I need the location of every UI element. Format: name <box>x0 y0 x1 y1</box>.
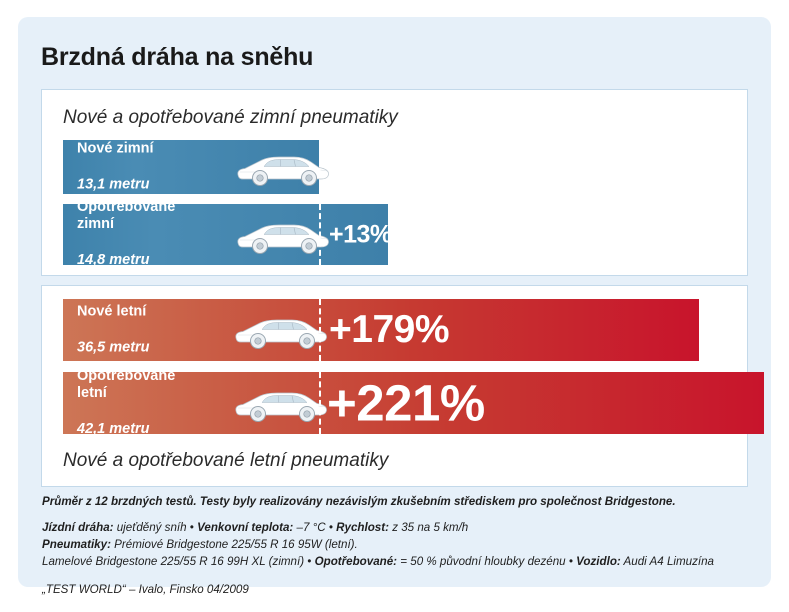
bar-winter-worn-label: Opotřebované zimní 14,8 metru <box>77 181 175 289</box>
footnotes: Průměr z 12 brzdných testů. Testy byly r… <box>42 495 754 599</box>
footnote-speed-label: Rychlost: <box>336 521 389 534</box>
car-sedan-icon <box>233 215 333 255</box>
footnote-vehicle-value: Audi A4 Limuzína <box>621 555 714 568</box>
baseline-marker-summer-new <box>319 299 321 361</box>
footnote-tires-detail: Lamelové Bridgestone 225/55 R 16 99H XL … <box>42 554 754 571</box>
bar-summer-new-percent: +179% <box>329 308 449 352</box>
bar-winter-worn-percent: +13% <box>329 220 392 249</box>
footnote-road-label: Jízdní dráha: <box>42 521 114 534</box>
bar-summer-worn-percent: +221% <box>327 374 485 433</box>
bar-winter-worn: Opotřebované zimní 14,8 metru +13% <box>63 204 388 265</box>
bar-winter-worn-distance: 14,8 metru <box>77 252 175 269</box>
bar-summer-worn-name: Opotřebované letní <box>77 368 175 402</box>
footnote-temp-label: Venkovní teplota: <box>197 521 293 534</box>
car-sedan-icon <box>231 310 331 350</box>
page-title: Brzdná dráha na sněhu <box>41 43 313 72</box>
bar-winter-new-name: Nové zimní <box>77 140 154 157</box>
footnote-tires: Pneumatiky: Prémiové Bridgestone 225/55 … <box>42 537 754 554</box>
summer-tires-panel: Nové letní 36,5 metru +179% Opotřebov <box>41 285 748 487</box>
footnote-temp-value: –7 °C • <box>293 521 336 534</box>
bar-summer-worn-label: Opotřebované letní 42,1 metru <box>77 349 175 457</box>
baseline-marker-winter <box>319 204 321 265</box>
bar-summer-new-name: Nové letní <box>77 303 150 320</box>
footnote-road-value: ujeťděný sníh • <box>114 521 198 534</box>
car-sedan-icon <box>231 383 331 423</box>
footnote-worn-value: = 50 % původní hloubky dezénu • <box>397 555 576 568</box>
footnote-speed-value: z 35 na 5 km/h <box>389 521 468 534</box>
footnote-vehicle-label: Vozidlo: <box>576 555 621 568</box>
footnote-tires-value: Prémiové Bridgestone 225/55 R 16 95W (le… <box>111 538 358 551</box>
bar-summer-worn-distance: 42,1 metru <box>77 421 175 438</box>
footnote-winter-tire-value: Lamelové Bridgestone 225/55 R 16 99H XL … <box>42 555 315 568</box>
footnote-tires-label: Pneumatiky: <box>42 538 111 551</box>
infographic-card: Brzdná dráha na sněhu Nové a opotřebovan… <box>18 17 771 587</box>
bar-winter-worn-name: Opotřebované zimní <box>77 199 175 233</box>
car-sedan-icon <box>233 147 333 187</box>
footnote-source: „TEST WORLD“ – Ivalo, Finsko 04/2009 <box>42 582 754 599</box>
winter-tires-panel: Nové a opotřebované zimní pneumatiky Nov… <box>41 89 748 276</box>
baseline-marker-summer-worn <box>319 372 321 434</box>
footnote-conditions: Jízdní dráha: ujeťděný sníh • Venkovní t… <box>42 520 754 537</box>
bar-summer-worn: Opotřebované letní 42,1 metru +221% <box>63 372 764 434</box>
footnote-headline: Průměr z 12 brzdných testů. Testy byly r… <box>42 495 754 508</box>
footnote-worn-label: Opotřebované: <box>315 555 397 568</box>
